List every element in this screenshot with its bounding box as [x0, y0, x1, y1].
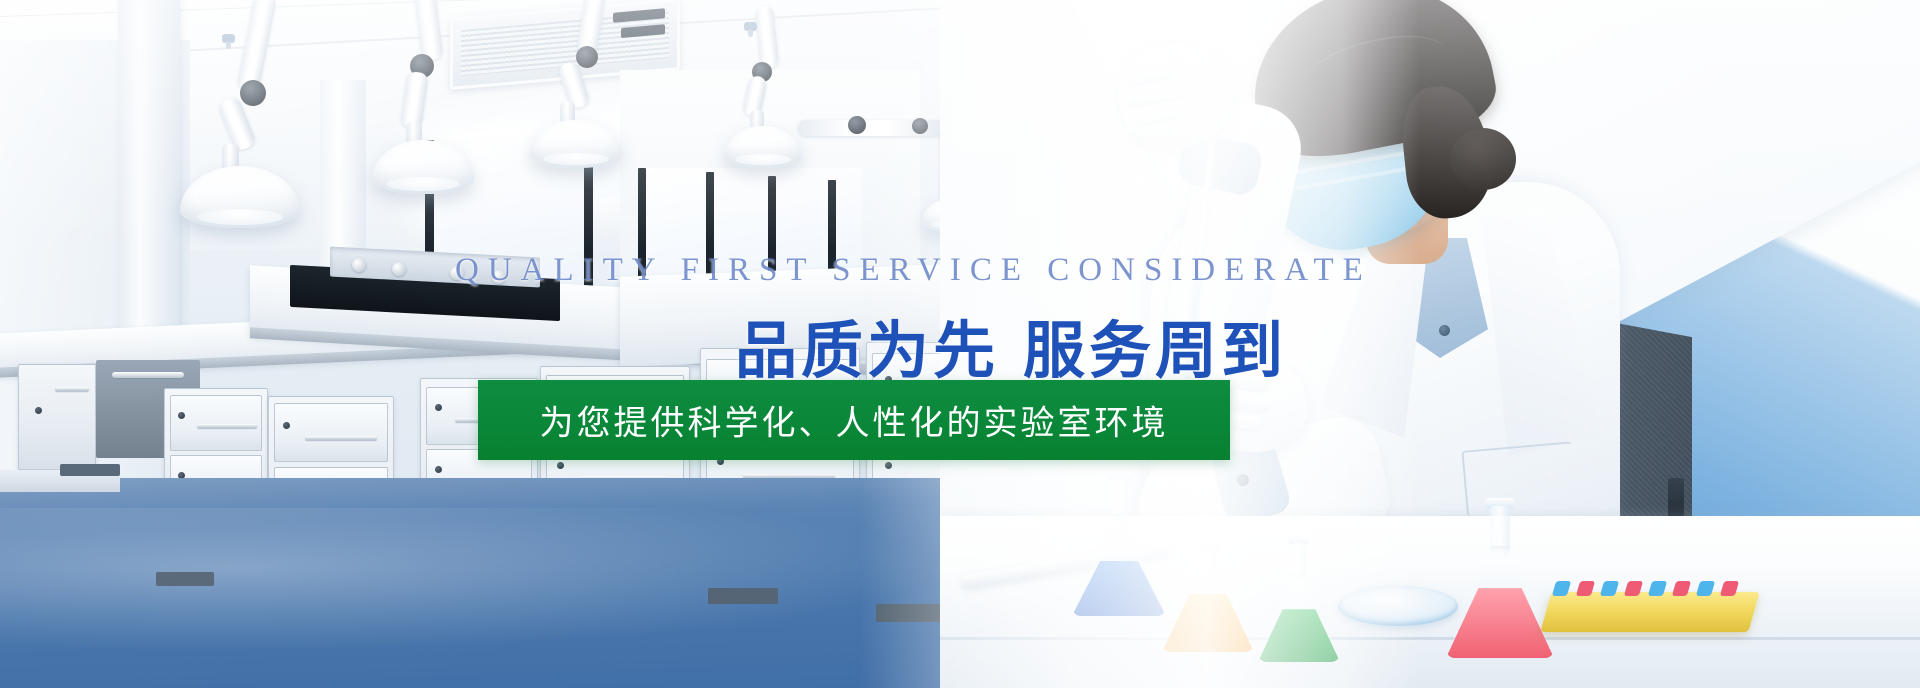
- lab-banner: QUALITY FIRST SERVICE CONSIDERATE 品质为先服务…: [0, 0, 1920, 688]
- cabinet-foot: [156, 572, 214, 586]
- structural-column: [118, 0, 180, 330]
- rail-joint: [912, 118, 928, 134]
- erlenmeyer-flask-orange: [1162, 548, 1254, 652]
- petri-dish: [1338, 586, 1458, 626]
- cabinet-foot: [708, 588, 778, 604]
- floor-reflection: [0, 508, 1000, 658]
- collar-button: [1439, 325, 1450, 336]
- ceiling-sprinkler-icon: [222, 34, 235, 43]
- test-tube-rack: [1540, 592, 1759, 632]
- rail-joint: [848, 116, 866, 134]
- erlenmeyer-flask-pink: [1446, 506, 1554, 658]
- sink-knob: [352, 258, 366, 272]
- erlenmeyer-flask-blue: [1072, 478, 1166, 616]
- sink-knob: [450, 266, 464, 280]
- cabinet-foot: [60, 464, 120, 476]
- sink-knob: [492, 270, 506, 284]
- sink-knob: [392, 262, 406, 276]
- ceiling-sprinkler-icon: [744, 22, 757, 31]
- erlenmeyer-flask-green: [1258, 542, 1340, 662]
- drawer-handle: [112, 372, 184, 378]
- lab-technician-photo: [940, 0, 1920, 688]
- hair-bun: [1450, 128, 1516, 190]
- table-edge: [940, 637, 1920, 640]
- drawer-cabinet: [18, 364, 96, 470]
